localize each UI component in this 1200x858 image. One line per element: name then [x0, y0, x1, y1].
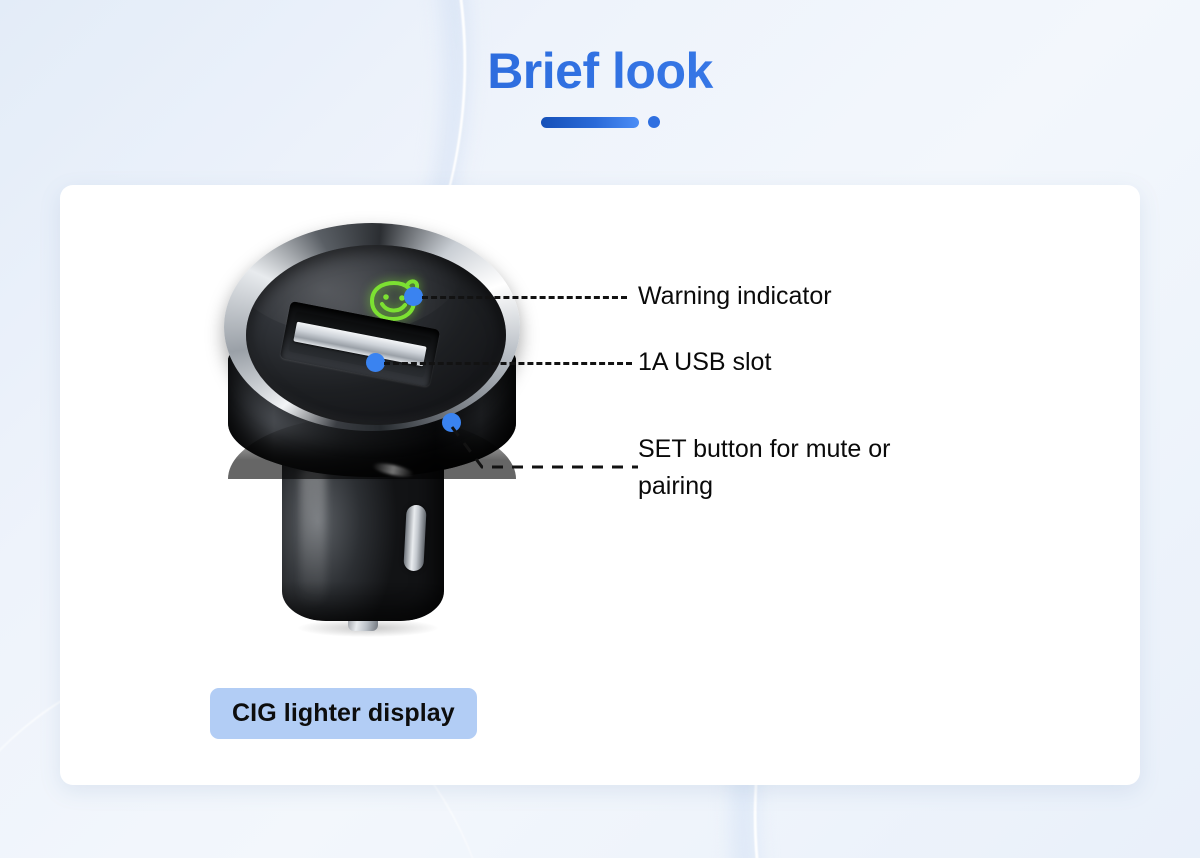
callout-line-set-button — [446, 421, 646, 481]
page-header: Brief look — [0, 0, 1200, 128]
callout-line-usb-slot — [384, 362, 632, 365]
content-card: Warning indicator 1A USB slot SET button… — [60, 185, 1140, 785]
underline-dot — [648, 116, 660, 128]
side-spring-contact — [403, 505, 426, 572]
callout-label-usb-slot: 1A USB slot — [638, 344, 771, 381]
callout-line-warning-indicator — [422, 296, 627, 299]
charger-top-face — [246, 245, 506, 425]
underline-bar — [541, 117, 639, 128]
chrome-bezel-ring — [224, 223, 520, 431]
callout-label-set-button: SET button for mute or pairing — [638, 431, 890, 505]
infographic-page: Brief look — [0, 0, 1200, 858]
callout-dot-usb-slot[interactable] — [366, 353, 385, 372]
callout-label-warning-indicator: Warning indicator — [638, 278, 832, 315]
callout-dot-warning-indicator[interactable] — [404, 287, 423, 306]
caption-badge: CIG lighter display — [210, 688, 477, 739]
title-underline — [0, 116, 1200, 128]
page-title: Brief look — [0, 0, 1200, 100]
